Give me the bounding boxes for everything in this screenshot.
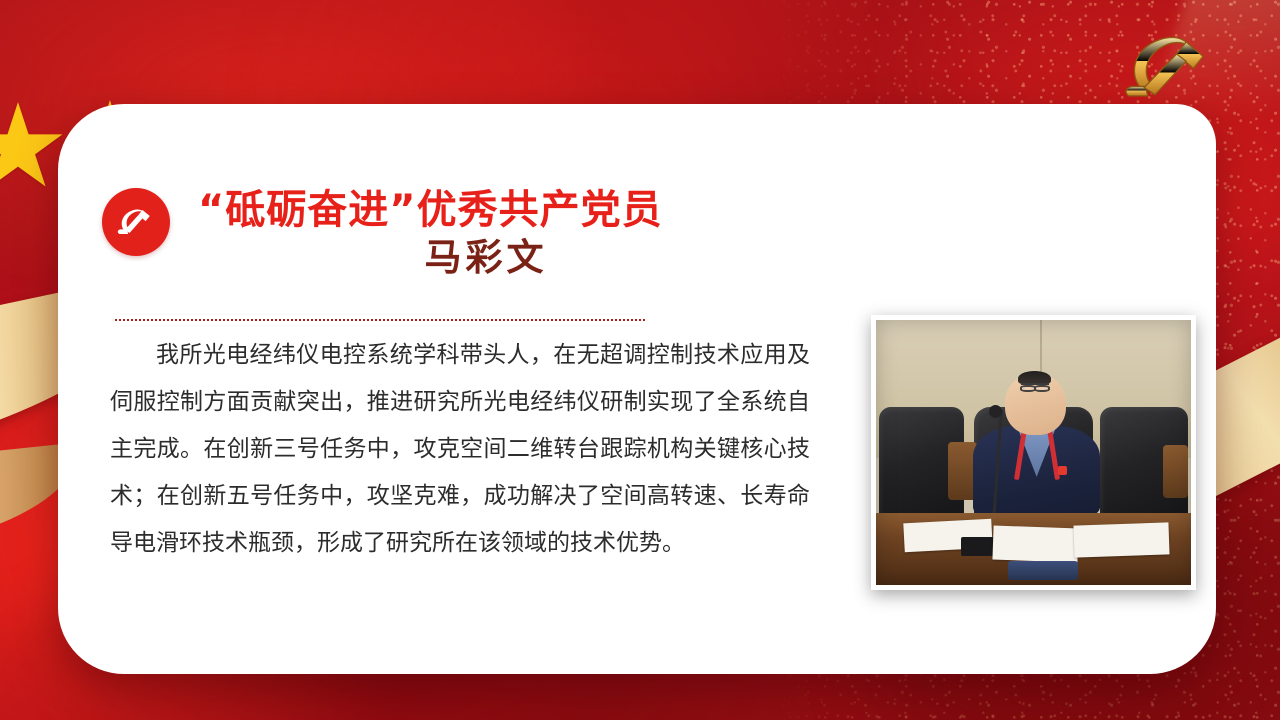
photo-folder bbox=[1008, 561, 1077, 580]
body-paragraph: 我所光电经纬仪电控系统学科带头人，在无超调控制技术应用及伺服控制方面贡献突出，推… bbox=[110, 332, 810, 567]
title-block: “砥砺奋进”优秀共产党员 马彩文 bbox=[198, 188, 782, 279]
photo-paper bbox=[992, 525, 1078, 562]
photo-person bbox=[971, 373, 1103, 513]
photo-paper bbox=[1074, 522, 1170, 557]
card-header: “砥砺奋进”优秀共产党员 马彩文 bbox=[102, 188, 782, 279]
dotted-divider bbox=[115, 319, 645, 321]
content-card: “砥砺奋进”优秀共产党员 马彩文 我所光电经纬仪电控系统学科带头人，在无超调控制… bbox=[58, 104, 1216, 674]
page-title: “砥砺奋进”优秀共产党员 bbox=[198, 188, 782, 233]
honoree-name: 马彩文 bbox=[198, 235, 782, 279]
party-emblem-icon bbox=[102, 188, 170, 256]
honoree-photo bbox=[871, 315, 1196, 590]
photo-chair-wood bbox=[1163, 445, 1188, 498]
party-emblem-gold-icon bbox=[1102, 18, 1232, 114]
slide-stage: ★ ★ ★ ★ ★ bbox=[0, 0, 1280, 720]
